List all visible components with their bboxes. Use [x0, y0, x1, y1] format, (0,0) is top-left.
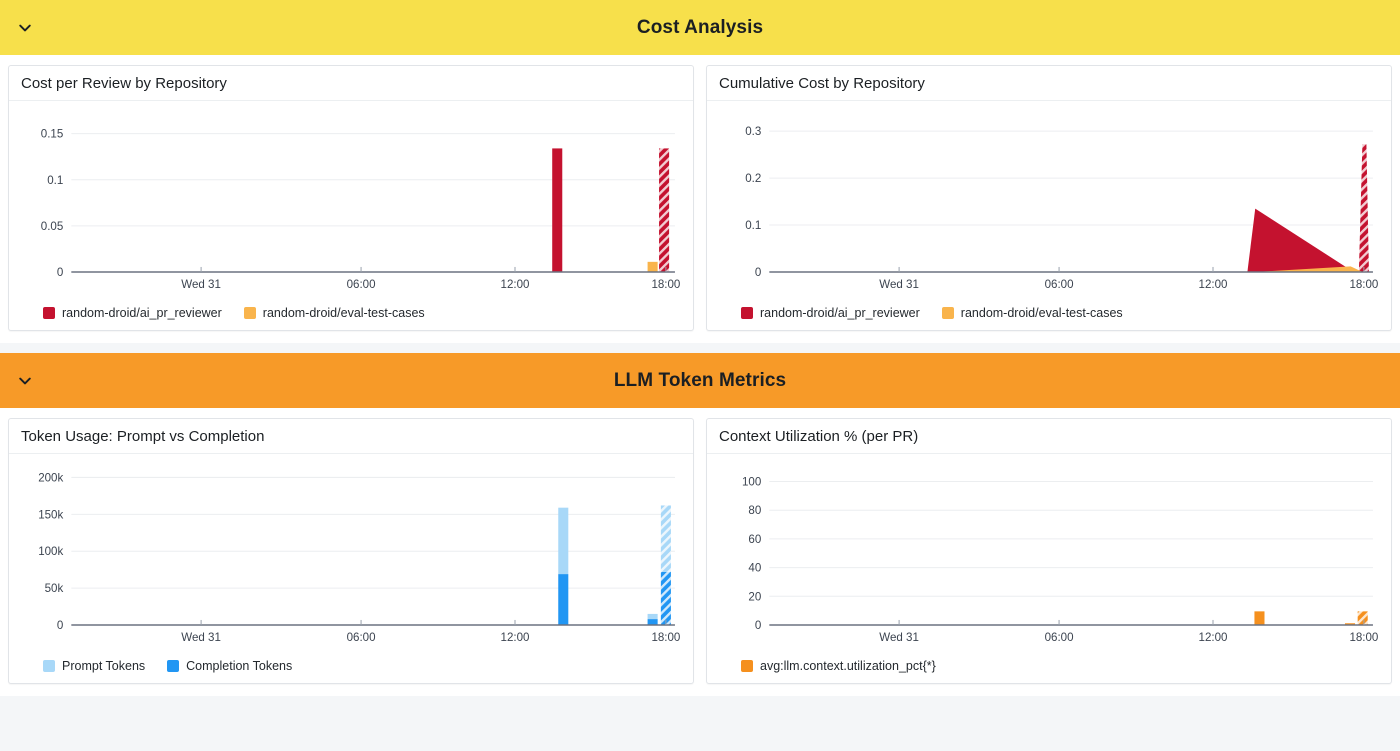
legend-label: random-droid/ai_pr_reviewer [62, 306, 222, 320]
svg-text:40: 40 [748, 563, 761, 575]
svg-text:18:00: 18:00 [1349, 632, 1378, 644]
section-title: Cost Analysis [0, 17, 1400, 39]
cost-analysis-cards: Cost per Review by Repository 00.050.10.… [0, 55, 1400, 343]
card-body: 020406080100Wed 3106:0012:0018:00 [707, 454, 1391, 655]
chevron-down-icon[interactable] [14, 370, 36, 392]
legend-item[interactable]: random-droid/ai_pr_reviewer [741, 306, 920, 320]
section-cost-analysis: Cost Analysis Cost per Review by Reposit… [0, 0, 1400, 343]
section-header-cost-analysis[interactable]: Cost Analysis [0, 0, 1400, 55]
svg-text:Wed 31: Wed 31 [879, 632, 919, 644]
chart-canvas: 050k100k150k200kWed 3106:0012:0018:00 [19, 460, 683, 651]
svg-text:12:00: 12:00 [1199, 279, 1228, 291]
card-cumulative-cost: Cumulative Cost by Repository 00.10.20.3… [706, 65, 1392, 331]
legend-swatch [167, 660, 179, 672]
chart-cumulative-cost[interactable]: 00.10.20.3Wed 3106:0012:0018:00 [717, 107, 1381, 298]
svg-text:0: 0 [57, 620, 63, 632]
svg-text:0.15: 0.15 [41, 129, 63, 141]
svg-text:100: 100 [742, 477, 761, 489]
svg-text:0.05: 0.05 [41, 221, 63, 233]
card-title: Cumulative Cost by Repository [707, 66, 1391, 101]
card-body: 00.050.10.15Wed 3106:0012:0018:00 [9, 101, 693, 302]
legend-item[interactable]: Completion Tokens [167, 659, 292, 673]
chart-canvas: 00.050.10.15Wed 3106:0012:0018:00 [19, 107, 683, 298]
svg-text:Wed 31: Wed 31 [879, 279, 919, 291]
svg-text:18:00: 18:00 [651, 279, 680, 291]
svg-text:18:00: 18:00 [651, 632, 680, 644]
svg-text:150k: 150k [38, 509, 63, 521]
svg-text:06:00: 06:00 [347, 279, 376, 291]
chevron-down-icon[interactable] [14, 17, 36, 39]
legend-token-usage: Prompt TokensCompletion Tokens [9, 655, 693, 683]
card-body: 050k100k150k200kWed 3106:0012:0018:00 [9, 454, 693, 655]
dashboard-page: Cost Analysis Cost per Review by Reposit… [0, 0, 1400, 751]
card-token-usage: Token Usage: Prompt vs Completion 050k10… [8, 418, 694, 684]
legend-swatch [43, 307, 55, 319]
legend-item[interactable]: random-droid/eval-test-cases [244, 306, 425, 320]
svg-text:12:00: 12:00 [501, 632, 530, 644]
svg-text:06:00: 06:00 [1045, 632, 1074, 644]
svg-text:0.3: 0.3 [745, 126, 761, 138]
svg-text:Wed 31: Wed 31 [181, 632, 221, 644]
svg-text:100k: 100k [38, 546, 63, 558]
legend-item[interactable]: random-droid/eval-test-cases [942, 306, 1123, 320]
legend-cumulative-cost: random-droid/ai_pr_reviewerrandom-droid/… [707, 302, 1391, 330]
svg-text:0: 0 [57, 267, 63, 279]
chart-canvas: 020406080100Wed 3106:0012:0018:00 [717, 460, 1381, 651]
svg-text:20: 20 [748, 591, 761, 603]
svg-text:0.2: 0.2 [745, 173, 761, 185]
section-llm-token-metrics: LLM Token Metrics Token Usage: Prompt vs… [0, 353, 1400, 696]
svg-text:18:00: 18:00 [1349, 279, 1378, 291]
llm-token-metrics-cards: Token Usage: Prompt vs Completion 050k10… [0, 408, 1400, 696]
legend-swatch [741, 307, 753, 319]
legend-item[interactable]: Prompt Tokens [43, 659, 145, 673]
svg-text:0.1: 0.1 [47, 175, 63, 187]
card-title: Cost per Review by Repository [9, 66, 693, 101]
legend-cost-per-review: random-droid/ai_pr_reviewerrandom-droid/… [9, 302, 693, 330]
legend-label: Prompt Tokens [62, 659, 145, 673]
legend-label: avg:llm.context.utilization_pct{*} [760, 659, 936, 673]
svg-text:0.1: 0.1 [745, 220, 761, 232]
section-header-llm-token-metrics[interactable]: LLM Token Metrics [0, 353, 1400, 408]
chart-cost-per-review[interactable]: 00.050.10.15Wed 3106:0012:0018:00 [19, 107, 683, 298]
svg-text:06:00: 06:00 [1045, 279, 1074, 291]
legend-label: Completion Tokens [186, 659, 292, 673]
svg-text:Wed 31: Wed 31 [181, 279, 221, 291]
legend-item[interactable]: avg:llm.context.utilization_pct{*} [741, 659, 936, 673]
svg-text:06:00: 06:00 [347, 632, 376, 644]
chart-context-utilization[interactable]: 020406080100Wed 3106:0012:0018:00 [717, 460, 1381, 651]
svg-text:0: 0 [755, 267, 761, 279]
svg-text:12:00: 12:00 [1199, 632, 1228, 644]
svg-text:12:00: 12:00 [501, 279, 530, 291]
legend-item[interactable]: random-droid/ai_pr_reviewer [43, 306, 222, 320]
card-title: Context Utilization % (per PR) [707, 419, 1391, 454]
legend-swatch [741, 660, 753, 672]
legend-label: random-droid/eval-test-cases [961, 306, 1123, 320]
chart-canvas: 00.10.20.3Wed 3106:0012:0018:00 [717, 107, 1381, 298]
legend-swatch [244, 307, 256, 319]
svg-text:0: 0 [755, 620, 761, 632]
legend-context-utilization: avg:llm.context.utilization_pct{*} [707, 655, 1391, 683]
legend-swatch [942, 307, 954, 319]
svg-text:80: 80 [748, 505, 761, 517]
legend-label: random-droid/eval-test-cases [263, 306, 425, 320]
card-title: Token Usage: Prompt vs Completion [9, 419, 693, 454]
legend-swatch [43, 660, 55, 672]
card-cost-per-review: Cost per Review by Repository 00.050.10.… [8, 65, 694, 331]
section-title: LLM Token Metrics [0, 370, 1400, 392]
card-body: 00.10.20.3Wed 3106:0012:0018:00 [707, 101, 1391, 302]
svg-text:60: 60 [748, 534, 761, 546]
chart-token-usage[interactable]: 050k100k150k200kWed 3106:0012:0018:00 [19, 460, 683, 651]
svg-text:50k: 50k [45, 583, 64, 595]
card-context-utilization: Context Utilization % (per PR) 020406080… [706, 418, 1392, 684]
legend-label: random-droid/ai_pr_reviewer [760, 306, 920, 320]
svg-text:200k: 200k [38, 473, 63, 485]
